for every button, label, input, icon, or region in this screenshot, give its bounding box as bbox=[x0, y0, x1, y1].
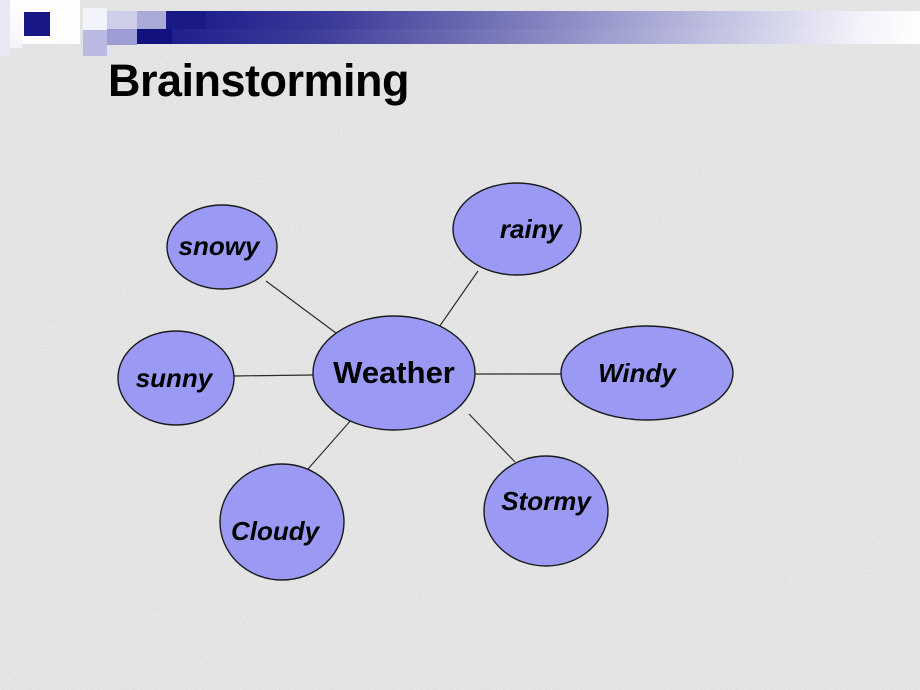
diagram-nodes: snowyrainysunnyWindyCloudyStormyWeather bbox=[118, 183, 733, 580]
node-label-stormy: Stormy bbox=[501, 486, 592, 516]
connector-line-sunny bbox=[234, 375, 313, 376]
node-weather-center[interactable]: Weather bbox=[313, 316, 475, 430]
node-label-windy: Windy bbox=[598, 358, 677, 388]
node-label-snowy: snowy bbox=[179, 231, 261, 261]
node-label-cloudy: Cloudy bbox=[231, 516, 321, 546]
node-label-sunny: sunny bbox=[136, 363, 214, 393]
node-sunny[interactable]: sunny bbox=[118, 331, 234, 425]
connector-line-cloudy bbox=[308, 419, 352, 469]
node-windy[interactable]: Windy bbox=[561, 326, 733, 420]
mind-map-diagram: snowyrainysunnyWindyCloudyStormyWeather bbox=[0, 0, 920, 690]
connector-line-stormy bbox=[469, 414, 515, 462]
node-stormy[interactable]: Stormy bbox=[484, 456, 608, 566]
node-label-weather-center: Weather bbox=[333, 355, 455, 390]
slide-canvas: Brainstorming snowyrainysunnyWindyCloudy… bbox=[0, 0, 920, 690]
node-snowy[interactable]: snowy bbox=[167, 205, 277, 289]
connector-line-snowy bbox=[266, 281, 340, 336]
connector-line-rainy bbox=[437, 271, 478, 330]
node-cloudy[interactable]: Cloudy bbox=[220, 464, 344, 580]
node-label-rainy: rainy bbox=[500, 214, 564, 244]
node-rainy[interactable]: rainy bbox=[453, 183, 581, 275]
